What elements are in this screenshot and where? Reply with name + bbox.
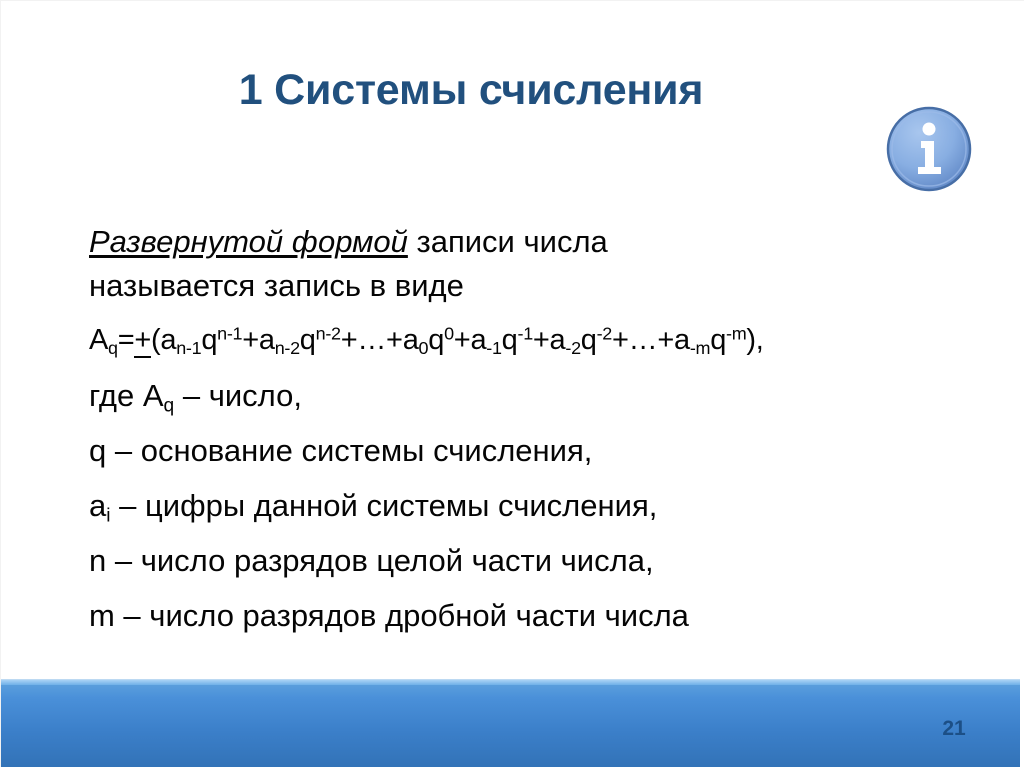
formula-term5-sub: -2 xyxy=(565,338,580,358)
legend-line-ai: ai – цифры данной системы счисления, xyxy=(89,487,989,525)
legend-A-post: – число, xyxy=(174,378,302,413)
formula-plus-1: + xyxy=(242,324,259,356)
formula-term1-base: a xyxy=(160,324,176,356)
legend-A-pre: где A xyxy=(89,378,164,413)
term-emphasis: Развернутой формой xyxy=(89,224,408,259)
formula-term4-sub: -1 xyxy=(486,338,501,358)
footer-bar xyxy=(1,679,1020,767)
formula-term2-base: a xyxy=(259,324,275,356)
formula-term2-sup: n-2 xyxy=(316,324,341,344)
formula-term6-sub: -m xyxy=(690,338,710,358)
formula-term5-q: q xyxy=(581,324,597,356)
formula-lhs-sub: q xyxy=(108,338,118,358)
formula-term2-sub: n-2 xyxy=(275,338,300,358)
plus-minus-sign: + xyxy=(134,321,151,360)
formula-term1-sub: n-1 xyxy=(176,338,201,358)
legend-line-n: n – число разрядов целой части числа, xyxy=(89,542,989,580)
formula-term2-q: q xyxy=(300,324,316,356)
formula-term1-sup: n-1 xyxy=(217,324,242,344)
formula-equals: = xyxy=(118,324,135,356)
formula-term4-base: a xyxy=(470,324,486,356)
formula-plus-5: +…+ xyxy=(612,324,674,356)
formula-term1-q: q xyxy=(201,324,217,356)
definition-line-2: называется запись в виде xyxy=(89,267,989,305)
page-number: 21 xyxy=(933,717,975,741)
formula-plus-4: + xyxy=(533,324,550,356)
formula-term3-q: q xyxy=(428,324,444,356)
page-title: 1 Системы счисления xyxy=(1,67,941,114)
formula-term3-sup: 0 xyxy=(444,324,454,344)
legend-ai-pre: a xyxy=(89,488,106,523)
body-text: Развернутой формой записи числа называет… xyxy=(89,223,989,651)
formula-close-paren: ), xyxy=(746,324,763,356)
slide: 1 Системы счисления Развернутой формой з… xyxy=(0,0,1024,767)
formula-term5-base: a xyxy=(550,324,566,356)
formula-plus-3: + xyxy=(454,324,471,356)
formula-term6-q: q xyxy=(710,324,726,356)
formula-term6-base: a xyxy=(674,324,690,356)
formula-plus-2: +…+ xyxy=(341,324,403,356)
legend-ai-post: – цифры данной системы счисления, xyxy=(111,488,658,523)
formula-open-paren: ( xyxy=(151,324,160,356)
definition-line-1-rest: записи числа xyxy=(408,224,608,259)
expanded-form-formula: Aq=+(an-1qn-1+an-2qn-2+…+a0q0+a-1q-1+a-2… xyxy=(89,321,989,360)
formula-term3-sub: 0 xyxy=(419,338,429,358)
info-icon xyxy=(885,105,973,193)
formula-lhs-base: A xyxy=(89,324,108,356)
formula-term4-sup: -1 xyxy=(518,324,533,344)
formula-term3-base: a xyxy=(403,324,419,356)
formula-term6-sup: -m xyxy=(726,324,746,344)
formula-term4-q: q xyxy=(502,324,518,356)
legend-line-A: где Aq – число, xyxy=(89,377,989,415)
legend-line-q: q – основание системы счисления, xyxy=(89,432,989,470)
formula-term5-sup: -2 xyxy=(597,324,612,344)
definition-line-1: Развернутой формой записи числа xyxy=(89,223,989,261)
legend-A-sub: q xyxy=(164,395,175,416)
legend-line-m: m – число разрядов дробной части числа xyxy=(89,597,989,635)
